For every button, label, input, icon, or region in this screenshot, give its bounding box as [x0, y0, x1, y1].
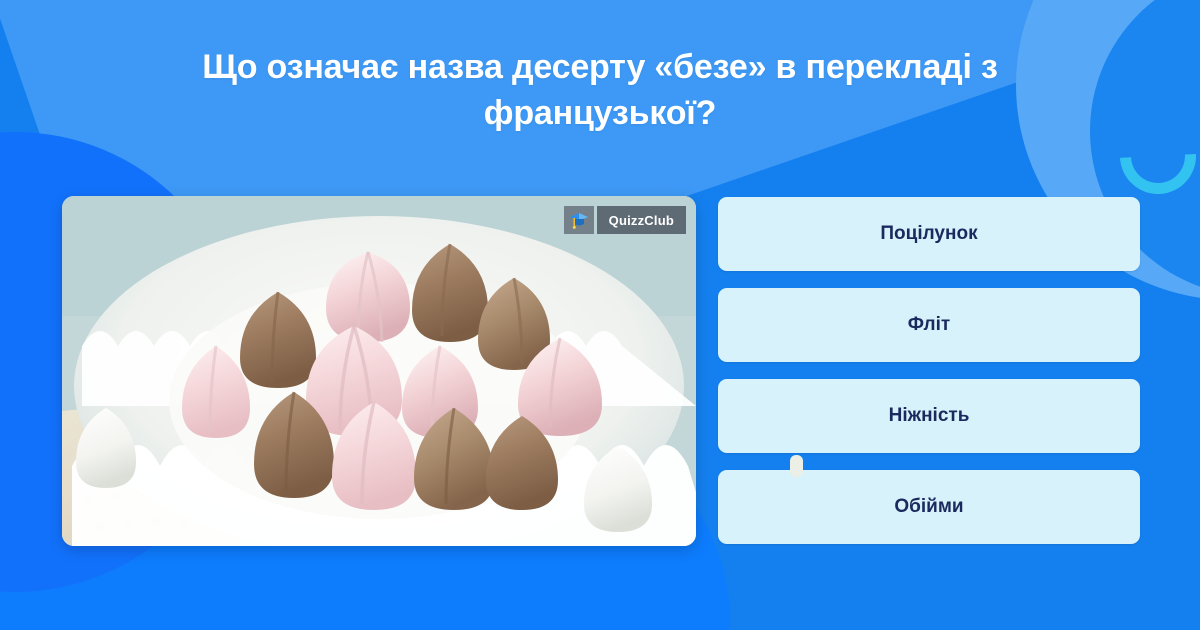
meringue-photo	[62, 196, 696, 546]
answer-option-1-label: Поцілунок	[880, 223, 977, 245]
graduation-cap-glyph	[569, 211, 589, 229]
answer-option-4-label: Обійми	[894, 496, 963, 518]
question-title: Що означає назва десерту «безе» в перекл…	[140, 44, 1060, 136]
brand-name: QuizzClub	[597, 206, 686, 234]
answer-option-3-label: Ніжність	[889, 405, 970, 427]
brand-badge: QuizzClub	[564, 206, 686, 234]
scroll-thumb-indicator[interactable]	[790, 455, 803, 477]
question-image: QuizzClub	[62, 196, 696, 546]
graduation-cap-icon	[564, 206, 594, 234]
quiz-card: Що означає назва десерту «безе» в перекл…	[0, 0, 1200, 630]
answer-option-1[interactable]: Поцілунок	[718, 197, 1140, 271]
answer-option-2[interactable]: Фліт	[718, 288, 1140, 362]
answer-option-2-label: Фліт	[908, 314, 950, 336]
answer-option-3[interactable]: Ніжність	[718, 379, 1140, 453]
answer-option-4[interactable]: Обійми	[718, 470, 1140, 544]
answer-list: Поцілунок Фліт Ніжність Обійми	[718, 197, 1140, 561]
